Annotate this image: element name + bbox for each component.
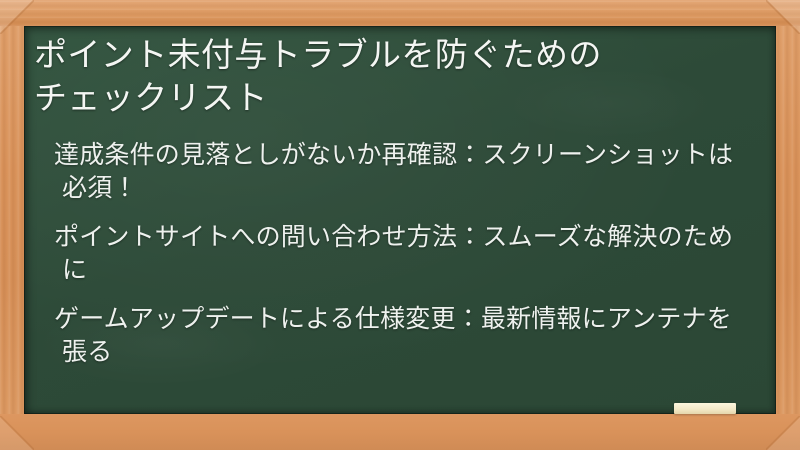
checklist-item: 達成条件の見落としがないか再確認：スクリーンショットは必須！ xyxy=(54,139,754,206)
wood-frame-top-rail xyxy=(0,0,800,26)
chalkboard-slide: ポイント未付与トラブルを防ぐための チェックリスト 達成条件の見落としがないか再… xyxy=(0,0,800,450)
wood-frame-chalk-ledge xyxy=(0,414,800,450)
chalkboard-surface: ポイント未付与トラブルを防ぐための チェックリスト 達成条件の見落としがないか再… xyxy=(24,26,776,414)
checklist-item: ゲームアップデートによる仕様変更：最新情報にアンテナを張る xyxy=(54,303,754,370)
checklist: 達成条件の見落としがないか再確認：スクリーンショットは必須！ ポイントサイトへの… xyxy=(32,139,754,370)
checklist-item: ポイントサイトへの問い合わせ方法：スムーズな解決のために xyxy=(54,221,754,288)
frame-corner-bottom-right xyxy=(766,416,800,450)
board-title: ポイント未付与トラブルを防ぐための チェックリスト xyxy=(32,34,754,120)
board-content: ポイント未付与トラブルを防ぐための チェックリスト 達成条件の見落としがないか再… xyxy=(24,26,776,414)
chalk-stick-icon xyxy=(674,403,736,414)
frame-corner-bottom-left xyxy=(0,416,34,450)
